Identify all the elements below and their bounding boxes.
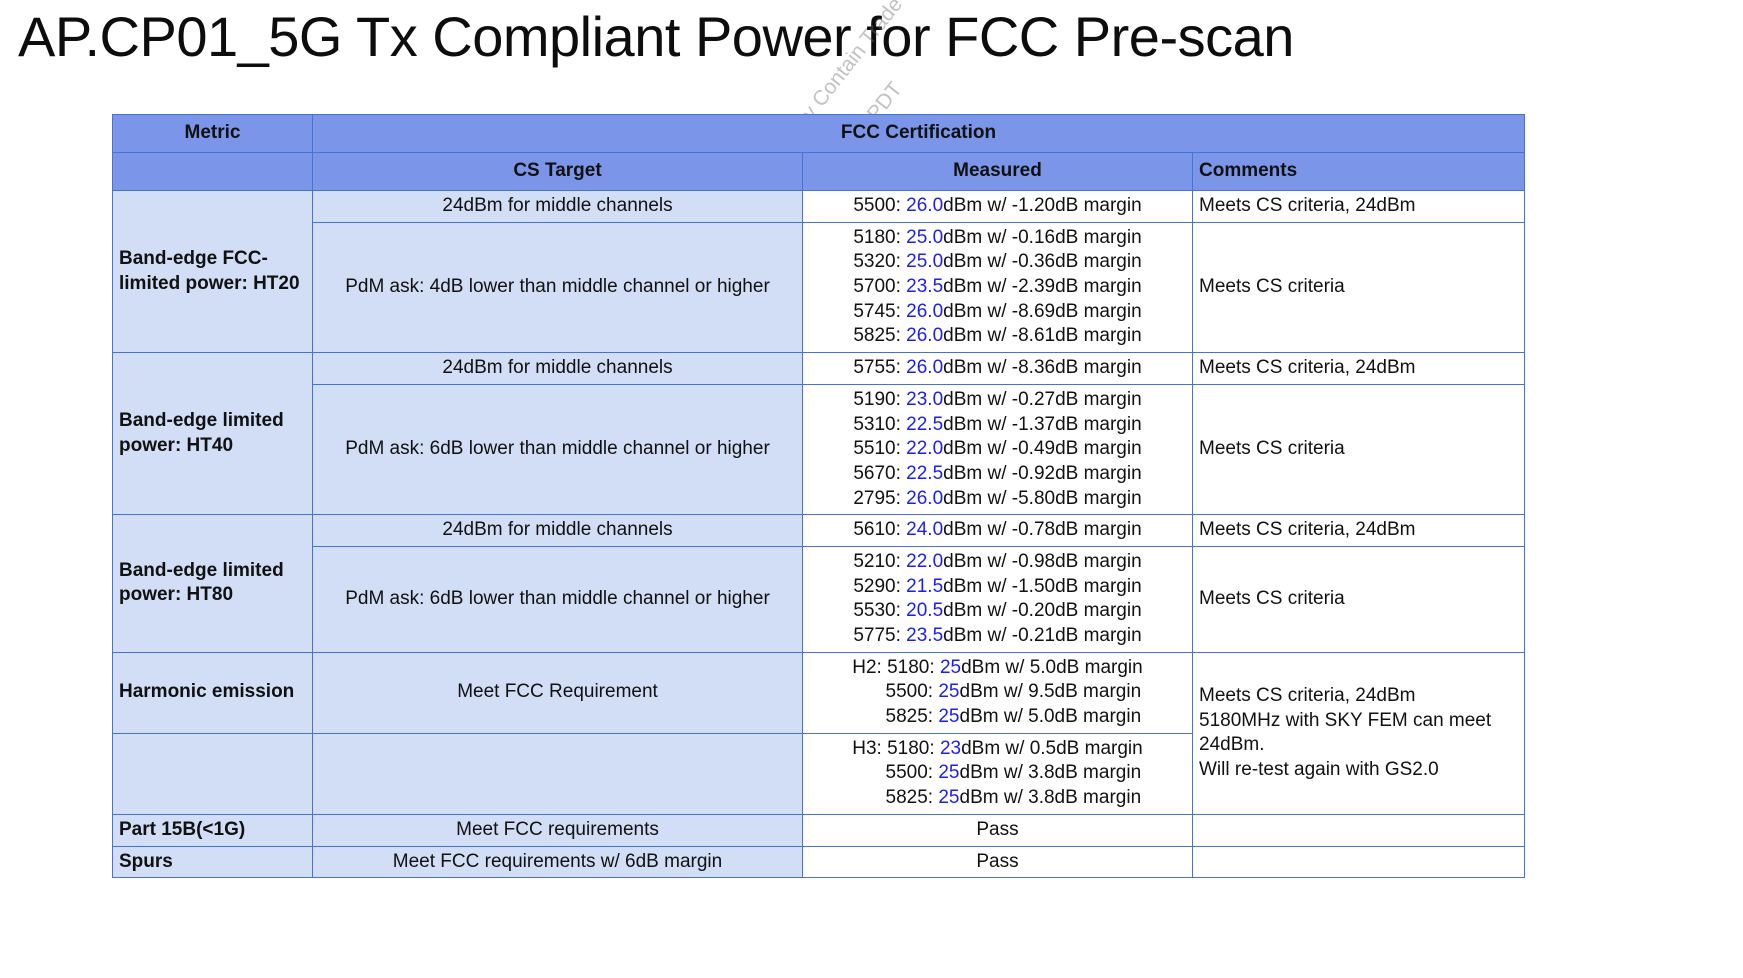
measured-suffix: dBm w/ -5.80dB margin: [943, 488, 1142, 509]
measured-suffix: dBm w/ 5.0dB margin: [960, 706, 1142, 727]
measured-suffix: dBm w/ -0.16dB margin: [943, 227, 1142, 248]
measured-ht80-middle: 5610: 24.0dBm w/ -0.78dB margin: [803, 515, 1193, 547]
comment-line: Meets CS criteria: [1199, 587, 1518, 612]
comment-line: Meets CS criteria: [1199, 437, 1518, 462]
measured-line: 5290: 21.5dBm w/ -1.50dB margin: [809, 575, 1186, 600]
table-row: Part 15B(<1G) Meet FCC requirements Pass: [113, 814, 1525, 846]
page-title: AP.CP01_5G Tx Compliant Power for FCC Pr…: [18, 2, 1718, 72]
comment-line: 24dBm.: [1199, 733, 1518, 758]
metric-label-spurs: Spurs: [113, 846, 313, 878]
measured-suffix: dBm w/ -0.49dB margin: [943, 438, 1142, 459]
measured-value: 23.0: [906, 389, 943, 410]
measured-channel: 5500:: [854, 762, 939, 783]
measured-suffix: dBm w/ -1.20dB margin: [943, 195, 1142, 216]
table-row: Band-edge limited power: HT40 24dBm for …: [113, 353, 1525, 385]
measured-value: 25: [938, 762, 959, 783]
comments-ht80-middle: Meets CS criteria, 24dBm: [1193, 515, 1525, 547]
measured-suffix: dBm w/ 5.0dB margin: [961, 657, 1143, 678]
measured-line: 5530: 20.5dBm w/ -0.20dB margin: [809, 599, 1186, 624]
measured-value: 25: [940, 657, 961, 678]
measured-spurs: Pass: [803, 846, 1193, 878]
measured-line: 5500: 25dBm w/ 9.5dB margin: [809, 680, 1186, 705]
measured-value: 22.5: [906, 463, 943, 484]
comment-line: Will re-test again with GS2.0: [1199, 758, 1518, 783]
cs-target-ht20-pdm: PdM ask: 4dB lower than middle channel o…: [313, 222, 803, 352]
comment-line: Meets CS criteria: [1199, 275, 1518, 300]
measured-line: H3: 5180: 23dBm w/ 0.5dB margin: [809, 737, 1186, 762]
table-row: Spurs Meet FCC requirements w/ 6dB margi…: [113, 846, 1525, 878]
comments-ht40-middle: Meets CS criteria, 24dBm: [1193, 353, 1525, 385]
measured-suffix: dBm w/ 9.5dB margin: [960, 681, 1142, 702]
measured-suffix: dBm w/ -0.20dB margin: [943, 600, 1142, 621]
measured-channel: 5745:: [853, 301, 906, 322]
measured-line: 5825: 25dBm w/ 3.8dB margin: [809, 786, 1186, 811]
measured-value: 20.5: [906, 600, 943, 621]
measured-line: 5500: 26.0dBm w/ -1.20dB margin: [809, 194, 1186, 219]
measured-value: 23.5: [906, 625, 943, 646]
measured-value: 25: [938, 787, 959, 808]
measured-channel: 5530:: [853, 600, 906, 621]
measured-suffix: dBm w/ -0.27dB margin: [943, 389, 1142, 410]
measured-harmonic-h2: H2: 5180: 25dBm w/ 5.0dB margin 5500: 25…: [803, 652, 1193, 733]
measured-line: 2795: 26.0dBm w/ -5.80dB margin: [809, 487, 1186, 512]
measured-line: 5700: 23.5dBm w/ -2.39dB margin: [809, 275, 1186, 300]
measured-channel: 5210:: [853, 551, 906, 572]
measured-channel: 5825:: [854, 787, 939, 808]
measured-channel: 5190:: [853, 389, 906, 410]
comments-spurs: [1193, 846, 1525, 878]
measured-line: 5610: 24.0dBm w/ -0.78dB margin: [809, 518, 1186, 543]
measured-line: 5210: 22.0dBm w/ -0.98dB margin: [809, 550, 1186, 575]
compliance-table: Metric FCC Certification CS Target Measu…: [112, 114, 1525, 878]
measured-channel: 5310:: [853, 414, 906, 435]
measured-suffix: dBm w/ -1.50dB margin: [943, 576, 1142, 597]
measured-line: 5755: 26.0dBm w/ -8.36dB margin: [809, 356, 1186, 381]
measured-ht80-pdm: 5210: 22.0dBm w/ -0.98dB margin5290: 21.…: [803, 546, 1193, 652]
metric-label-part15b: Part 15B(<1G): [113, 814, 313, 846]
metric-label-ht80: Band-edge limited power: HT80: [113, 515, 313, 652]
measured-channel: H2: 5180:: [852, 657, 940, 678]
measured-value: 23.5: [906, 276, 943, 297]
measured-channel: 5755:: [853, 357, 906, 378]
measured-channel: 5775:: [853, 625, 906, 646]
measured-channel: 5825:: [853, 325, 906, 346]
measured-line: 5670: 22.5dBm w/ -0.92dB margin: [809, 462, 1186, 487]
table-row: PdM ask: 6dB lower than middle channel o…: [113, 384, 1525, 514]
measured-suffix: dBm w/ 3.8dB margin: [960, 762, 1142, 783]
table-header-row-1: Metric FCC Certification: [113, 115, 1525, 153]
measured-channel: 5320:: [853, 251, 906, 272]
cs-target-ht80-pdm: PdM ask: 6dB lower than middle channel o…: [313, 546, 803, 652]
measured-channel: 5500:: [853, 195, 906, 216]
comment-line: Meets CS criteria, 24dBm: [1199, 194, 1518, 219]
measured-value: 26.0: [906, 325, 943, 346]
header-comments: Comments: [1193, 153, 1525, 191]
metric-label-ht20: Band-edge FCC-limited power: HT20: [113, 191, 313, 353]
measured-suffix: dBm w/ -8.36dB margin: [943, 357, 1142, 378]
comments-harmonic: Meets CS criteria, 24dBm5180MHz with SKY…: [1193, 652, 1525, 814]
measured-suffix: dBm w/ -0.92dB margin: [943, 463, 1142, 484]
header-metric-blank: [113, 153, 313, 191]
measured-line: H2: 5180: 25dBm w/ 5.0dB margin: [809, 656, 1186, 681]
measured-channel: 5290:: [853, 576, 906, 597]
measured-value: 25: [938, 706, 959, 727]
measured-suffix: dBm w/ -0.98dB margin: [943, 551, 1142, 572]
measured-channel: 5825:: [854, 706, 939, 727]
comment-line: Meets CS criteria, 24dBm: [1199, 684, 1518, 709]
comments-ht40-pdm: Meets CS criteria: [1193, 384, 1525, 514]
metric-label-harmonic-blank: [113, 733, 313, 814]
measured-line: 5190: 23.0dBm w/ -0.27dB margin: [809, 388, 1186, 413]
measured-ht40-pdm: 5190: 23.0dBm w/ -0.27dB margin5310: 22.…: [803, 384, 1193, 514]
measured-suffix: dBm w/ 3.8dB margin: [960, 787, 1142, 808]
measured-suffix: dBm w/ -2.39dB margin: [943, 276, 1142, 297]
cs-target-ht20-middle: 24dBm for middle channels: [313, 191, 803, 223]
table-row: PdM ask: 6dB lower than middle channel o…: [113, 546, 1525, 652]
cs-target-ht80-middle: 24dBm for middle channels: [313, 515, 803, 547]
measured-harmonic-h3: H3: 5180: 23dBm w/ 0.5dB margin 5500: 25…: [803, 733, 1193, 814]
measured-suffix: dBm w/ -0.78dB margin: [943, 519, 1142, 540]
metric-label-harmonic: Harmonic emission: [113, 652, 313, 733]
measured-channel: 5610:: [853, 519, 906, 540]
cs-target-harmonic: Meet FCC Requirement: [313, 652, 803, 733]
measured-suffix: dBm w/ -0.21dB margin: [943, 625, 1142, 646]
measured-value: 26.0: [906, 301, 943, 322]
measured-value: 26.0: [906, 357, 943, 378]
metric-label-ht40: Band-edge limited power: HT40: [113, 353, 313, 515]
measured-channel: 5500:: [854, 681, 939, 702]
table-row: Band-edge FCC-limited power: HT20 24dBm …: [113, 191, 1525, 223]
cs-target-harmonic-blank: [313, 733, 803, 814]
measured-value: 25.0: [906, 227, 943, 248]
comment-line: Meets CS criteria, 24dBm: [1199, 356, 1518, 381]
comment-line: Meets CS criteria, 24dBm: [1199, 518, 1518, 543]
measured-ht20-middle: 5500: 26.0dBm w/ -1.20dB margin: [803, 191, 1193, 223]
comment-line: 5180MHz with SKY FEM can meet: [1199, 709, 1518, 734]
comments-ht20-middle: Meets CS criteria, 24dBm: [1193, 191, 1525, 223]
measured-channel: 5670:: [853, 463, 906, 484]
measured-suffix: dBm w/ -8.69dB margin: [943, 301, 1142, 322]
measured-line: 5825: 25dBm w/ 5.0dB margin: [809, 705, 1186, 730]
measured-value: 22.0: [906, 438, 943, 459]
cs-target-spurs: Meet FCC requirements w/ 6dB margin: [313, 846, 803, 878]
comments-ht80-pdm: Meets CS criteria: [1193, 546, 1525, 652]
table-row: PdM ask: 4dB lower than middle channel o…: [113, 222, 1525, 352]
measured-suffix: dBm w/ 0.5dB margin: [961, 738, 1143, 759]
measured-value: 25.0: [906, 251, 943, 272]
measured-channel: 5180:: [853, 227, 906, 248]
measured-value: 21.5: [906, 576, 943, 597]
measured-suffix: dBm w/ -0.36dB margin: [943, 251, 1142, 272]
measured-line: 5775: 23.5dBm w/ -0.21dB margin: [809, 624, 1186, 649]
measured-part15b: Pass: [803, 814, 1193, 846]
measured-suffix: dBm w/ -8.61dB margin: [943, 325, 1142, 346]
measured-line: 5180: 25.0dBm w/ -0.16dB margin: [809, 226, 1186, 251]
measured-value: 23: [940, 738, 961, 759]
measured-suffix: dBm w/ -1.37dB margin: [943, 414, 1142, 435]
measured-value: 26.0: [906, 488, 943, 509]
comments-part15b: [1193, 814, 1525, 846]
cs-target-part15b: Meet FCC requirements: [313, 814, 803, 846]
measured-value: 26.0: [906, 195, 943, 216]
header-fcc-certification: FCC Certification: [313, 115, 1525, 153]
cs-target-ht40-middle: 24dBm for middle channels: [313, 353, 803, 385]
measured-channel: 5510:: [853, 438, 906, 459]
measured-line: 5310: 22.5dBm w/ -1.37dB margin: [809, 413, 1186, 438]
slide-page: AP.CP01_5G Tx Compliant Power for FCC Pr…: [0, 0, 1743, 978]
table-row: Harmonic emission Meet FCC Requirement H…: [113, 652, 1525, 733]
measured-line: 5510: 22.0dBm w/ -0.49dB margin: [809, 437, 1186, 462]
measured-channel: 2795:: [853, 488, 906, 509]
measured-channel: 5700:: [853, 276, 906, 297]
measured-line: 5500: 25dBm w/ 3.8dB margin: [809, 761, 1186, 786]
measured-value: 24.0: [906, 519, 943, 540]
cs-target-ht40-pdm: PdM ask: 6dB lower than middle channel o…: [313, 384, 803, 514]
measured-channel: H3: 5180:: [852, 738, 940, 759]
measured-value: 22.5: [906, 414, 943, 435]
comments-ht20-pdm: Meets CS criteria: [1193, 222, 1525, 352]
measured-value: 22.0: [906, 551, 943, 572]
measured-line: 5320: 25.0dBm w/ -0.36dB margin: [809, 250, 1186, 275]
table-row: Band-edge limited power: HT80 24dBm for …: [113, 515, 1525, 547]
header-cs-target: CS Target: [313, 153, 803, 191]
measured-ht40-middle: 5755: 26.0dBm w/ -8.36dB margin: [803, 353, 1193, 385]
header-metric: Metric: [113, 115, 313, 153]
header-measured: Measured: [803, 153, 1193, 191]
measured-value: 25: [938, 681, 959, 702]
table-header-row-2: CS Target Measured Comments: [113, 153, 1525, 191]
measured-line: 5745: 26.0dBm w/ -8.69dB margin: [809, 300, 1186, 325]
measured-ht20-pdm: 5180: 25.0dBm w/ -0.16dB margin5320: 25.…: [803, 222, 1193, 352]
measured-line: 5825: 26.0dBm w/ -8.61dB margin: [809, 324, 1186, 349]
